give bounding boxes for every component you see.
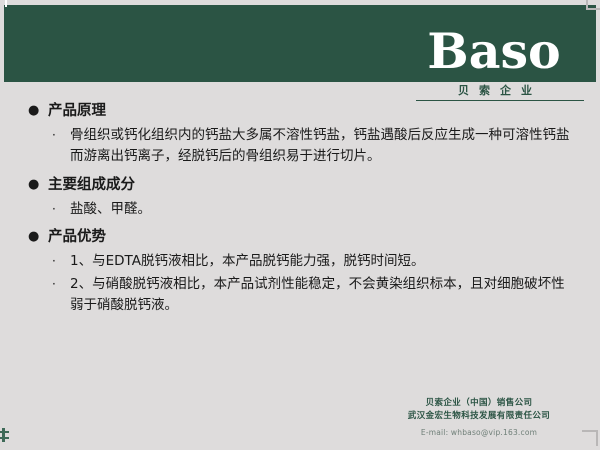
footer-company-line1: 贝索企业（中国）销售公司: [374, 397, 584, 410]
bullet-level1: ● 产品原理: [28, 100, 576, 122]
bullet-dot-icon: ·: [52, 199, 70, 220]
bullet-level2: · 盐酸、甲醛。: [28, 199, 576, 220]
logo-block: Baso: [404, 25, 584, 77]
bullet-level1-label: 主要组成成分: [48, 174, 135, 196]
bullet-level1-label: 产品原理: [48, 100, 106, 122]
corner-mark-bottom-right-vertical-icon: [596, 430, 598, 446]
bullet-dot-icon: ·: [52, 251, 70, 272]
footer-company-line2: 武汉金宏生物科技发展有限责任公司: [374, 410, 584, 423]
bullet-level1-label: 产品优势: [48, 226, 106, 248]
bullet-disc-icon: ●: [28, 100, 48, 122]
slide: Baso 贝索企业 ● 产品原理 · 骨组织或钙化组织内的钙盐大多属不溶性钙盐，…: [0, 0, 600, 450]
bullet-level1: ● 主要组成成分: [28, 174, 576, 196]
baso-wordmark-icon: Baso: [404, 25, 584, 77]
bullet-level2-label: 1、与EDTA脱钙液相比，本产品脱钙能力强，脱钙时间短。: [70, 251, 576, 272]
content-body: ● 产品原理 · 骨组织或钙化组织内的钙盐大多属不溶性钙盐，钙盐遇酸后反应生成一…: [28, 100, 576, 318]
bullet-level2: · 骨组织或钙化组织内的钙盐大多属不溶性钙盐，钙盐遇酸后反应生成一种可溶性钙盐而…: [28, 125, 576, 167]
bullet-dot-icon: ·: [52, 274, 70, 295]
footer-email: E-mail: whbaso@vip.163.com: [374, 427, 584, 438]
bullet-disc-icon: ●: [28, 174, 48, 196]
bullet-level2-label: 骨组织或钙化组织内的钙盐大多属不溶性钙盐，钙盐遇酸后反应生成一种可溶性钙盐而游离…: [70, 125, 576, 167]
bullet-level2-label: 2、与硝酸脱钙液相比，本产品试剂性能稳定，不会黄染组织标本，且对细胞破坏性弱于硝…: [70, 274, 576, 316]
header-band: Baso: [4, 5, 596, 82]
bullet-level2-label: 盐酸、甲醛。: [70, 199, 576, 220]
bullet-level2: · 1、与EDTA脱钙液相比，本产品脱钙能力强，脱钙时间短。: [28, 251, 576, 272]
logo-subtitle: 贝索企业: [416, 82, 584, 101]
bullet-dot-icon: ·: [52, 125, 70, 146]
bullet-level1: ● 产品优势: [28, 226, 576, 248]
bullet-disc-icon: ●: [28, 226, 48, 248]
footer: 贝索企业（中国）销售公司 武汉金宏生物科技发展有限责任公司 E-mail: wh…: [374, 397, 584, 438]
bullet-level2: · 2、与硝酸脱钙液相比，本产品试剂性能稳定，不会黄染组织标本，且对细胞破坏性弱…: [28, 274, 576, 316]
